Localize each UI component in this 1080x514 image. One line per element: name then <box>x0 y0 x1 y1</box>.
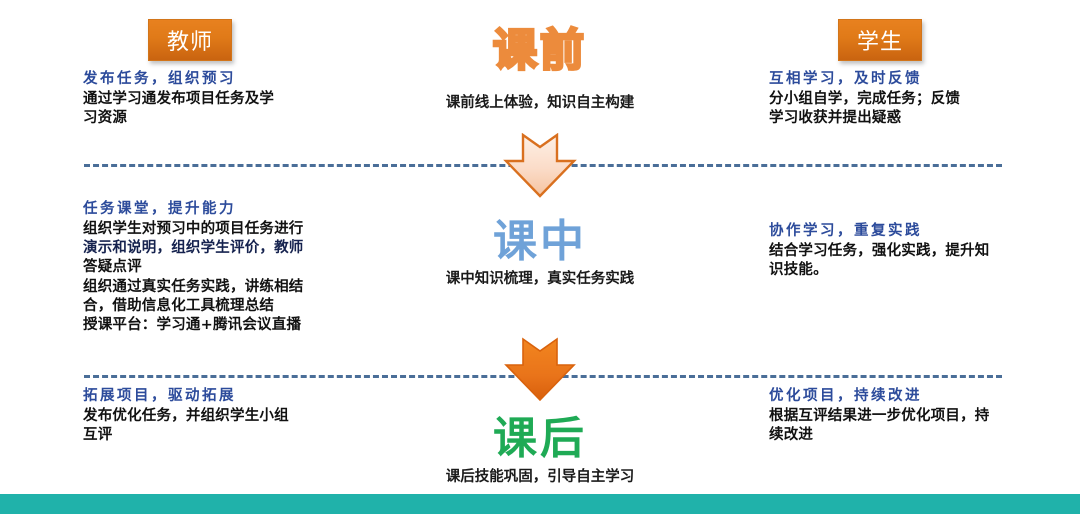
student-heading-after-class: 优化项目，持续改进 <box>769 387 1019 406</box>
student-block-in-class: 协作学习，重复实践 结合学习任务，强化实践，提升知 识技能。 <box>769 222 1019 280</box>
student-line: 识技能。 <box>769 261 1019 280</box>
student-line: 结合学习任务，强化实践，提升知 <box>769 242 1019 261</box>
stage-title-in-class: 课中 <box>390 205 690 269</box>
teacher-heading-pre-class: 发布任务，组织预习 <box>83 70 333 89</box>
student-block-after-class: 优化项目，持续改进 根据互评结果进一步优化项目，持 续改进 <box>769 387 1019 445</box>
teacher-block-in-class: 任务课堂，提升能力 组织学生对预习中的项目任务进行 演示和说明，组织学生评价，教… <box>83 200 333 335</box>
student-line: 分小组自学，完成任务；反馈 <box>769 90 1019 109</box>
teacher-line: 习资源 <box>83 109 333 128</box>
bottom-accent-bar <box>0 494 1080 514</box>
teacher-line: 组织通过真实任务实践，讲练相结 <box>83 278 333 297</box>
teacher-block-after-class: 拓展项目，驱动拓展 发布优化任务，并组织学生小组 互评 <box>83 387 333 445</box>
teacher-block-pre-class: 发布任务，组织预习 通过学习通发布项目任务及学 习资源 <box>83 70 333 128</box>
student-line: 根据互评结果进一步优化项目，持 <box>769 407 1019 426</box>
stage-subtitle-in-class: 课中知识梳理，真实任务实践 <box>360 267 720 288</box>
down-arrow-light-icon <box>503 133 577 199</box>
teacher-line: 授课平台：学习通+腾讯会议直播 <box>83 316 333 335</box>
down-arrow-solid-icon <box>503 337 577 403</box>
teacher-line: 组织学生对预习中的项目任务进行 <box>83 220 333 239</box>
teacher-line: 演示和说明，组织学生评价，教师 <box>83 239 333 258</box>
teacher-line: 答疑点评 <box>83 258 333 277</box>
stage-title-after-class: 课后 <box>390 402 690 466</box>
stage-subtitle-pre-class: 课前线上体验，知识自主构建 <box>360 91 720 112</box>
stage-title-pre-class: 课前 <box>390 14 690 78</box>
student-block-pre-class: 互相学习，及时反馈 分小组自学，完成任务；反馈 学习收获并提出疑惑 <box>769 70 1019 128</box>
slide-canvas: 教师 学生 课前 课前线上体验，知识自主构建 发布任务，组织预习 通过学习通发布… <box>0 0 1080 514</box>
student-heading-in-class: 协作学习，重复实践 <box>769 222 1019 241</box>
teacher-heading-in-class: 任务课堂，提升能力 <box>83 200 333 219</box>
teacher-line: 互评 <box>83 426 333 445</box>
role-badge-teacher: 教师 <box>148 19 232 61</box>
role-badge-student: 学生 <box>838 19 922 61</box>
stage-subtitle-after-class: 课后技能巩固，引导自主学习 <box>360 465 720 486</box>
teacher-line: 合，借助信息化工具梳理总结 <box>83 297 333 316</box>
student-line: 学习收获并提出疑惑 <box>769 109 1019 128</box>
teacher-heading-after-class: 拓展项目，驱动拓展 <box>83 387 333 406</box>
teacher-line: 发布优化任务，并组织学生小组 <box>83 407 333 426</box>
student-heading-pre-class: 互相学习，及时反馈 <box>769 70 1019 89</box>
teacher-line: 通过学习通发布项目任务及学 <box>83 90 333 109</box>
student-line: 续改进 <box>769 426 1019 445</box>
